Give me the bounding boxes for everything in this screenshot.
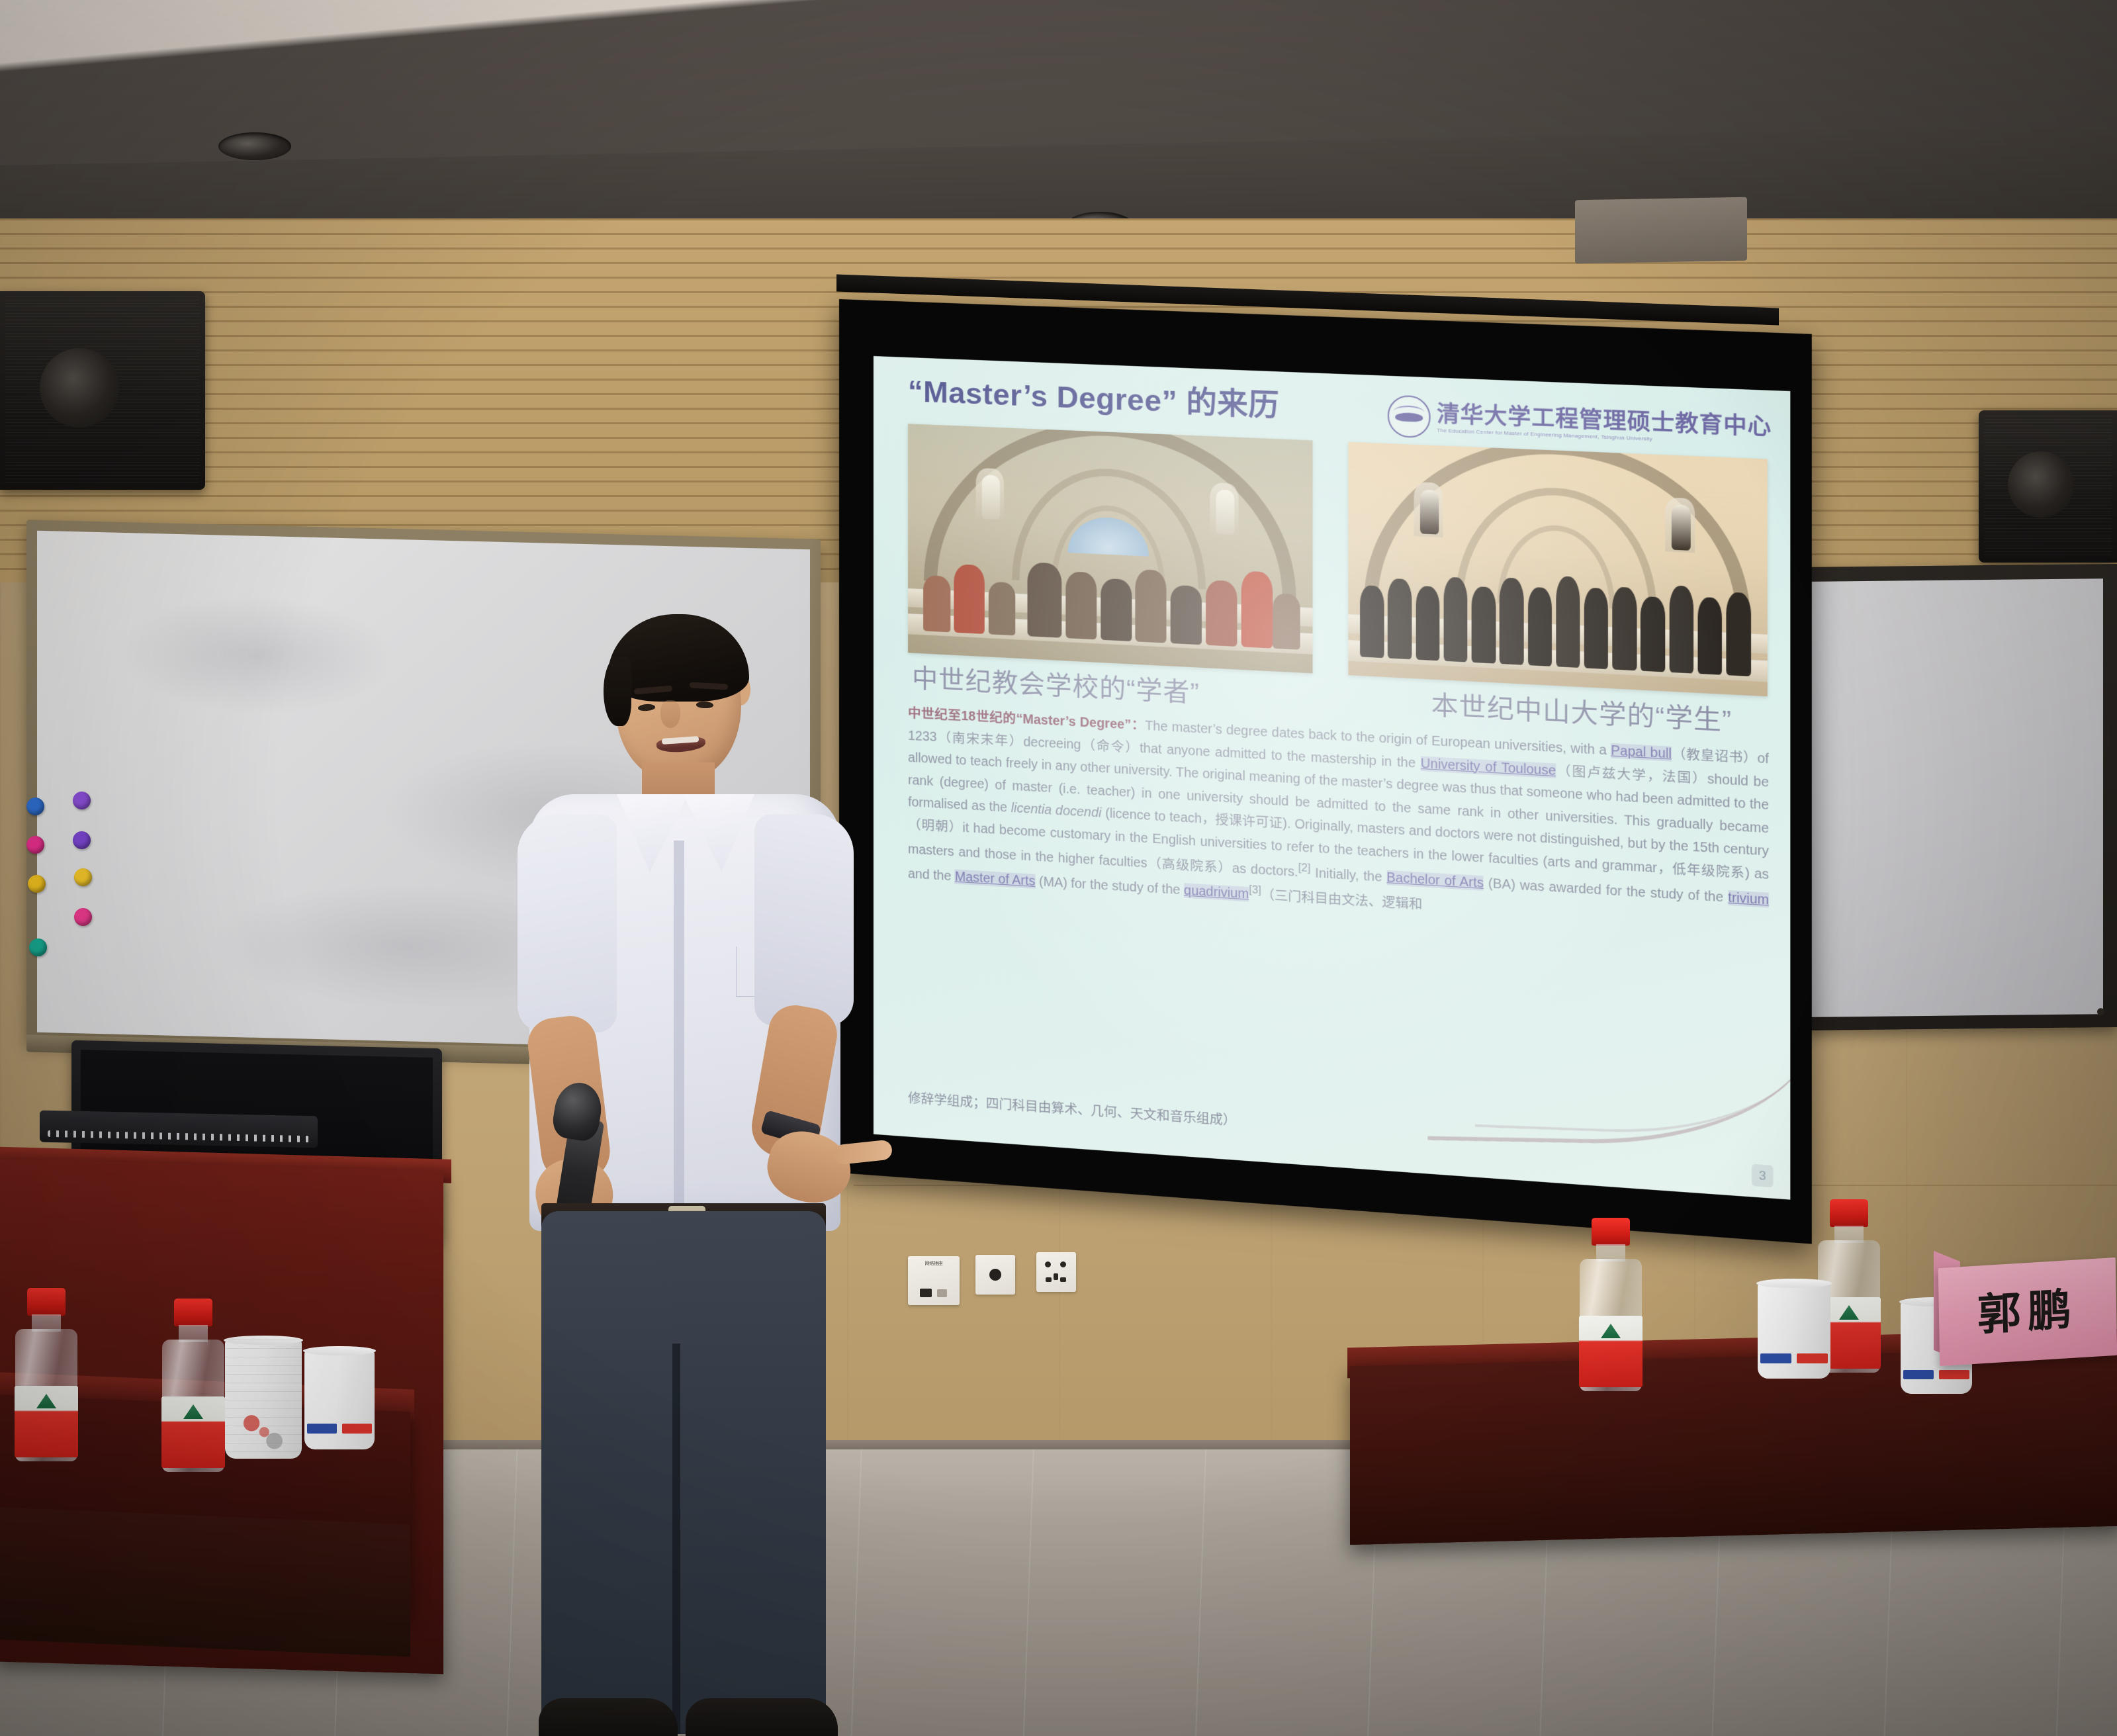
- magnet-yellow-1[interactable]: [28, 875, 46, 893]
- fresco-figure: [1101, 578, 1132, 641]
- link-papal-bull[interactable]: Papal bull: [1611, 743, 1672, 762]
- graduation-group-photo: [1348, 442, 1768, 697]
- slide-title: “Master’s Degree” 的来历: [908, 367, 1279, 425]
- graduate-figure: [1669, 585, 1693, 674]
- fresco-figure: [1206, 580, 1237, 647]
- magnet-yellow-2[interactable]: [74, 868, 92, 886]
- graduate-figure: [1472, 586, 1496, 664]
- coax-connector-icon: [989, 1269, 1001, 1281]
- shoe-right: [686, 1698, 838, 1736]
- graduate-figure: [1443, 576, 1467, 662]
- graduate-figure: [1416, 586, 1439, 661]
- nose: [660, 700, 680, 728]
- cup-band-red: [342, 1424, 372, 1434]
- wall-speaker-right: [1979, 410, 2117, 563]
- wall-speaker-left: [0, 291, 205, 490]
- speaker-cone-right-icon: [2008, 451, 2074, 518]
- magnet-pink-2[interactable]: [74, 908, 92, 926]
- graduate-figure: [1500, 577, 1523, 665]
- water-bottle-1[interactable]: [7, 1288, 86, 1473]
- sleeve-left: [518, 814, 617, 1032]
- slide-body-tail: 修辞学组成；四门科目由算术、几何、天文和音乐组成）: [908, 1087, 1236, 1129]
- link-university-of-toulouse[interactable]: University of Toulouse: [1421, 756, 1556, 778]
- left-table-front-panel: [0, 1507, 410, 1657]
- presenter: [503, 596, 940, 1736]
- eye-right: [696, 702, 713, 709]
- cup-band-red: [1939, 1370, 1969, 1379]
- socket-hole-2: [1060, 1261, 1066, 1267]
- graduate-figure: [1360, 585, 1384, 658]
- table-name-card: 郭鹏: [1938, 1257, 2117, 1366]
- water-bottle-2[interactable]: [154, 1299, 233, 1484]
- graduate-figure: [1641, 596, 1665, 672]
- school-of-athens-fresco: [908, 424, 1312, 673]
- projection-screen: “Master’s Degree” 的来历 清华大学工程管理硕士教育中心 The…: [839, 299, 1812, 1244]
- fresco-statue-left: [981, 475, 999, 520]
- speaker-cone-icon: [40, 348, 119, 428]
- shoe-left: [539, 1698, 678, 1736]
- body-lead: 中世纪至18世纪的“Master’s Degree”：: [908, 706, 1145, 733]
- paper-cup-stack[interactable]: [225, 1340, 302, 1459]
- fresco-figure: [1241, 571, 1272, 648]
- trousers: [541, 1211, 826, 1734]
- lecture-hall-photo: 网络插座 “Master’s Degree” 的来历 清华大学工程管理硕士教育中…: [0, 0, 2117, 1736]
- body-t9: （三门科目由文法、逻辑和: [1261, 888, 1423, 912]
- fresco-statue-right: [1216, 490, 1234, 535]
- keyboard-keys: [48, 1130, 310, 1142]
- magnet-teal[interactable]: [29, 938, 47, 956]
- whiteboard-smudge-1: [116, 592, 394, 718]
- tsinghua-seal-icon: [1388, 394, 1431, 438]
- body-t5: Initially, the: [1310, 866, 1386, 885]
- slide-number-badge: 3: [1752, 1164, 1773, 1188]
- fresco-figure: [1027, 563, 1061, 638]
- bottle-label: [15, 1386, 78, 1457]
- link-quadrivium[interactable]: quadrivium: [1184, 883, 1249, 901]
- cup-band-blue: [307, 1424, 337, 1434]
- paper-cup-single[interactable]: [304, 1350, 375, 1449]
- graduation-person-niche-left: [1420, 489, 1439, 534]
- bottle-cap-icon: [1592, 1218, 1630, 1246]
- coax-tv-plate[interactable]: [975, 1255, 1015, 1295]
- socket-hole-5: [1060, 1277, 1066, 1282]
- magnet-purple-1[interactable]: [73, 792, 91, 809]
- fresco-figure: [1136, 569, 1167, 643]
- caption-left: 中世纪教会学校的“学者”: [912, 658, 1200, 710]
- body-ref-2: [2]: [1298, 862, 1311, 874]
- link-bachelor-of-arts[interactable]: Bachelor of Arts: [1386, 870, 1484, 890]
- graduate-figure: [1527, 587, 1551, 667]
- magnet-blue[interactable]: [26, 798, 44, 815]
- graduation-crowd: [1356, 554, 1759, 677]
- magnet-purple-2[interactable]: [73, 831, 91, 849]
- graduation-person-niche-right: [1672, 505, 1691, 551]
- tsinghua-mem-logo: 清华大学工程管理硕士教育中心 The Education Center for …: [1388, 394, 1772, 452]
- name-card-text: 郭鹏: [1977, 1287, 2078, 1336]
- cup-logo-icon: [242, 1411, 285, 1451]
- shirt-placket: [674, 841, 684, 1211]
- air-vent: [1575, 197, 1747, 264]
- body-t6: (BA) was awarded for the study of the: [1484, 876, 1728, 905]
- magnet-pink-1[interactable]: [26, 836, 44, 854]
- body-ref-3: [3]: [1249, 884, 1261, 896]
- power-socket-plate[interactable]: [1036, 1252, 1076, 1292]
- presentation-slide: “Master’s Degree” 的来历 清华大学工程管理硕士教育中心 The…: [874, 356, 1790, 1200]
- cup-band-blue: [1903, 1370, 1933, 1379]
- slide-decorative-swoosh-2: [1471, 1025, 1790, 1139]
- slide-photo-row: [908, 424, 1768, 696]
- link-trivium[interactable]: trivium: [1728, 890, 1769, 908]
- cup-band-blue: [1760, 1353, 1791, 1363]
- downlight-left-icon: [218, 132, 291, 160]
- pointing-finger: [833, 1139, 893, 1165]
- link-master-of-arts[interactable]: Master of Arts: [955, 869, 1036, 888]
- graduate-figure: [1612, 586, 1637, 670]
- board-corner-dot: [2097, 1008, 2104, 1015]
- trouser-inseam: [672, 1344, 680, 1734]
- right-table: [1350, 1348, 2117, 1545]
- paper-cup-3[interactable]: [1758, 1283, 1830, 1379]
- socket-hole-3: [1054, 1273, 1058, 1280]
- bottle-label: [161, 1396, 225, 1468]
- fresco-figure: [954, 564, 985, 633]
- bottle-cap-icon: [1830, 1199, 1868, 1227]
- cup-band-red: [1797, 1353, 1827, 1363]
- body-t8: (MA) for the study of the: [1035, 874, 1184, 897]
- presenter-sideburn: [604, 657, 631, 726]
- body-licentia-docendi: licentia docendi: [1011, 801, 1102, 821]
- graduate-figure: [1697, 597, 1722, 675]
- socket-hole-4: [1046, 1277, 1052, 1282]
- graduate-figure: [1584, 588, 1609, 670]
- bottle-label: [1579, 1316, 1643, 1387]
- socket-hole-1: [1045, 1261, 1051, 1267]
- graduate-figure: [1726, 592, 1750, 676]
- fresco-figure: [1273, 593, 1300, 649]
- fresco-figure: [1065, 571, 1097, 639]
- fresco-figure: [1171, 585, 1202, 645]
- bottle-cap-icon: [174, 1299, 212, 1326]
- keyboard[interactable]: [40, 1111, 318, 1148]
- sleeve-right: [754, 814, 854, 1026]
- water-bottle-3[interactable]: [1574, 1218, 1648, 1396]
- graduate-figure: [1388, 578, 1412, 660]
- slide-body-text: 中世纪至18世纪的“Master’s Degree”：The master’s …: [908, 703, 1769, 938]
- bottle-cap-icon: [27, 1288, 66, 1316]
- graduate-figure: [1556, 576, 1580, 668]
- fresco-figure: [989, 582, 1016, 635]
